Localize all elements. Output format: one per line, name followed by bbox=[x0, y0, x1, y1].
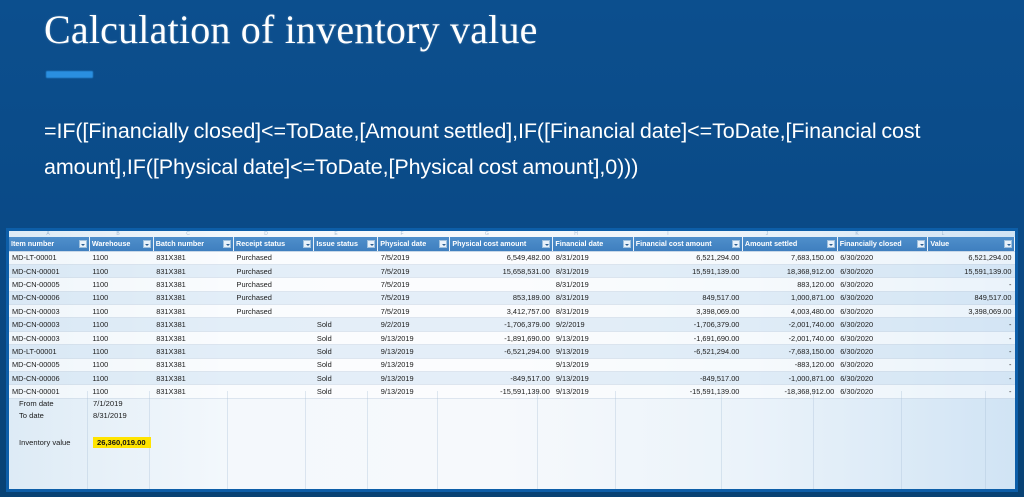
cell-financial-cost-amount[interactable]: -15,591,139.00 bbox=[633, 385, 742, 398]
cell-item-number[interactable]: MD-LT-00001 bbox=[9, 345, 89, 358]
cell-receipt-status[interactable]: Purchased bbox=[234, 251, 314, 264]
table-row[interactable]: MD-CN-000061100831X381Sold9/13/2019-849,… bbox=[9, 372, 1015, 385]
cell-physical-date[interactable]: 7/5/2019 bbox=[378, 305, 450, 318]
cell-value[interactable]: - bbox=[928, 318, 1015, 331]
cell-financial-cost-amount[interactable]: -1,691,690.00 bbox=[633, 331, 742, 344]
filter-dropdown-icon[interactable] bbox=[827, 240, 835, 248]
from-date-label: From date bbox=[19, 399, 93, 408]
cell-financial-cost-amount[interactable]: 849,517.00 bbox=[633, 291, 742, 304]
cell-warehouse[interactable]: 1100 bbox=[89, 331, 153, 344]
column-header-warehouse[interactable]: Warehouse bbox=[89, 237, 153, 251]
cell-physical-cost-amount[interactable]: -6,521,294.00 bbox=[450, 345, 553, 358]
cell-financial-cost-amount[interactable] bbox=[633, 358, 742, 371]
cell-financial-date[interactable]: 9/13/2019 bbox=[553, 358, 633, 371]
table-row[interactable]: MD-LT-000011100831X381Sold9/13/2019-6,52… bbox=[9, 345, 1015, 358]
from-date-value[interactable]: 7/1/2019 bbox=[93, 399, 123, 408]
table-row[interactable]: MD-CN-000011100831X381Sold9/13/2019-15,5… bbox=[9, 385, 1015, 398]
cell-amount-settled[interactable]: 18,368,912.00 bbox=[742, 264, 837, 277]
grid-line bbox=[813, 391, 814, 491]
inventory-value-row: Inventory value 26,360,019.00 bbox=[19, 437, 151, 448]
cell-value[interactable]: 15,591,139.00 bbox=[928, 264, 1015, 277]
table-row[interactable]: MD-LT-000011100831X381Purchased7/5/20196… bbox=[9, 251, 1015, 264]
cell-amount-settled[interactable]: -2,001,740.00 bbox=[742, 331, 837, 344]
column-header-financial-date[interactable]: Financial date bbox=[553, 237, 633, 251]
cell-issue-status[interactable] bbox=[314, 251, 378, 264]
column-header-label: Batch number bbox=[156, 239, 204, 248]
cell-physical-cost-amount[interactable] bbox=[450, 358, 553, 371]
filter-dropdown-icon[interactable] bbox=[917, 240, 925, 248]
cell-financial-cost-amount[interactable]: 6,521,294.00 bbox=[633, 251, 742, 264]
cell-physical-date[interactable]: 7/5/2019 bbox=[378, 291, 450, 304]
cell-batch-number[interactable]: 831X381 bbox=[153, 318, 233, 331]
cell-warehouse[interactable]: 1100 bbox=[89, 305, 153, 318]
cell-value[interactable]: - bbox=[928, 331, 1015, 344]
table-row[interactable]: MD-CN-000051100831X381Sold9/13/20199/13/… bbox=[9, 358, 1015, 371]
cell-receipt-status[interactable]: Purchased bbox=[234, 305, 314, 318]
cell-batch-number[interactable]: 831X381 bbox=[153, 264, 233, 277]
inventory-value-cell[interactable]: 26,360,019.00 bbox=[93, 437, 151, 448]
filter-dropdown-icon[interactable] bbox=[143, 240, 151, 248]
column-header-label: Issue status bbox=[316, 239, 358, 248]
cell-financial-date[interactable]: 9/13/2019 bbox=[553, 331, 633, 344]
cell-financial-date[interactable]: 9/2/2019 bbox=[553, 318, 633, 331]
cell-financial-date[interactable]: 8/31/2019 bbox=[553, 305, 633, 318]
column-header-label: Financial date bbox=[555, 239, 603, 248]
filter-dropdown-icon[interactable] bbox=[223, 240, 231, 248]
cell-value[interactable]: - bbox=[928, 358, 1015, 371]
grid-line bbox=[901, 391, 902, 491]
formula-text: =IF([Financially closed]<=ToDate,[Amount… bbox=[44, 113, 986, 185]
column-header-amount-settled[interactable]: Amount settled bbox=[742, 237, 837, 251]
cell-physical-cost-amount[interactable]: -15,591,139.00 bbox=[450, 385, 553, 398]
cell-warehouse[interactable]: 1100 bbox=[89, 278, 153, 291]
cell-warehouse[interactable]: 1100 bbox=[89, 345, 153, 358]
grid-line bbox=[985, 391, 986, 491]
filter-dropdown-icon[interactable] bbox=[439, 240, 447, 248]
cell-batch-number[interactable]: 831X381 bbox=[153, 291, 233, 304]
cell-item-number[interactable]: MD-CN-00006 bbox=[9, 372, 89, 385]
column-header-batch-number[interactable]: Batch number bbox=[153, 237, 233, 251]
cell-financial-date[interactable]: 8/31/2019 bbox=[553, 264, 633, 277]
cell-financially-closed[interactable]: 6/30/2020 bbox=[837, 331, 928, 344]
cell-receipt-status[interactable] bbox=[234, 318, 314, 331]
table-row[interactable]: MD-CN-000031100831X381Sold9/2/2019-1,706… bbox=[9, 318, 1015, 331]
cell-issue-status[interactable] bbox=[314, 291, 378, 304]
cell-financial-cost-amount[interactable]: -849,517.00 bbox=[633, 372, 742, 385]
cell-item-number[interactable]: MD-CN-00003 bbox=[9, 331, 89, 344]
cell-item-number[interactable]: MD-CN-00005 bbox=[9, 278, 89, 291]
cell-warehouse[interactable]: 1100 bbox=[89, 385, 153, 398]
cell-batch-number[interactable]: 831X381 bbox=[153, 331, 233, 344]
cell-physical-date[interactable]: 9/13/2019 bbox=[378, 358, 450, 371]
cell-item-number[interactable]: MD-CN-00006 bbox=[9, 291, 89, 304]
cell-amount-settled[interactable]: -883,120.00 bbox=[742, 358, 837, 371]
cell-physical-cost-amount[interactable]: 3,412,757.00 bbox=[450, 305, 553, 318]
filter-dropdown-icon[interactable] bbox=[79, 240, 87, 248]
spreadsheet-screenshot: ABCDEFGHIJKL Item numberWarehouseBatch n… bbox=[6, 228, 1018, 492]
table-row[interactable]: MD-CN-000061100831X381Purchased7/5/20198… bbox=[9, 291, 1015, 304]
cell-financially-closed[interactable]: 6/30/2020 bbox=[837, 372, 928, 385]
column-header-label: Financially closed bbox=[840, 239, 902, 248]
cell-issue-status[interactable]: Sold bbox=[314, 372, 378, 385]
cell-financial-date[interactable]: 9/13/2019 bbox=[553, 372, 633, 385]
table-row[interactable]: MD-CN-000051100831X381Purchased7/5/20198… bbox=[9, 278, 1015, 291]
cell-financially-closed[interactable]: 6/30/2020 bbox=[837, 385, 928, 398]
grid-line bbox=[227, 391, 228, 491]
cell-financial-date[interactable]: 8/31/2019 bbox=[553, 278, 633, 291]
cell-financially-closed[interactable]: 6/30/2020 bbox=[837, 291, 928, 304]
inventory-table: Item numberWarehouseBatch numberReceipt … bbox=[9, 237, 1015, 399]
cell-physical-cost-amount[interactable]: -849,517.00 bbox=[450, 372, 553, 385]
cell-value[interactable]: 6,521,294.00 bbox=[928, 251, 1015, 264]
cell-item-number[interactable]: MD-CN-00001 bbox=[9, 385, 89, 398]
cell-financial-date[interactable]: 8/31/2019 bbox=[553, 291, 633, 304]
cell-receipt-status[interactable]: Purchased bbox=[234, 291, 314, 304]
cell-receipt-status[interactable] bbox=[234, 372, 314, 385]
cell-physical-date[interactable]: 9/2/2019 bbox=[378, 318, 450, 331]
cell-receipt-status[interactable] bbox=[234, 358, 314, 371]
cell-financial-date[interactable]: 9/13/2019 bbox=[553, 345, 633, 358]
cell-amount-settled[interactable]: 4,003,480.00 bbox=[742, 305, 837, 318]
to-date-label: To date bbox=[19, 411, 93, 420]
cell-physical-cost-amount[interactable]: -1,706,379.00 bbox=[450, 318, 553, 331]
cell-amount-settled[interactable]: -2,001,740.00 bbox=[742, 318, 837, 331]
cell-amount-settled[interactable]: 7,683,150.00 bbox=[742, 251, 837, 264]
cell-financial-cost-amount[interactable]: -6,521,294.00 bbox=[633, 345, 742, 358]
filter-dropdown-icon[interactable] bbox=[542, 240, 550, 248]
grid-line bbox=[437, 391, 438, 491]
cell-value[interactable]: 3,398,069.00 bbox=[928, 305, 1015, 318]
slide-canvas: Calculation of inventory value =IF([Fina… bbox=[0, 0, 1024, 497]
cell-receipt-status[interactable] bbox=[234, 331, 314, 344]
cell-issue-status[interactable] bbox=[314, 305, 378, 318]
cell-physical-date[interactable]: 9/13/2019 bbox=[378, 372, 450, 385]
filter-dropdown-icon[interactable] bbox=[1004, 240, 1012, 248]
table-header-row: Item numberWarehouseBatch numberReceipt … bbox=[9, 237, 1015, 251]
cell-issue-status[interactable]: Sold bbox=[314, 385, 378, 398]
cell-financially-closed[interactable]: 6/30/2020 bbox=[837, 358, 928, 371]
cell-issue-status[interactable]: Sold bbox=[314, 345, 378, 358]
cell-financial-date[interactable]: 9/13/2019 bbox=[553, 385, 633, 398]
column-header-label: Item number bbox=[11, 239, 54, 248]
cell-item-number[interactable]: MD-CN-00003 bbox=[9, 318, 89, 331]
column-header-issue-status[interactable]: Issue status bbox=[314, 237, 378, 251]
cell-issue-status[interactable]: Sold bbox=[314, 331, 378, 344]
cell-physical-cost-amount[interactable]: 6,549,482.00 bbox=[450, 251, 553, 264]
cell-batch-number[interactable]: 831X381 bbox=[153, 358, 233, 371]
filter-dropdown-icon[interactable] bbox=[303, 240, 311, 248]
cell-amount-settled[interactable]: -18,368,912.00 bbox=[742, 385, 837, 398]
grid-line bbox=[367, 391, 368, 491]
cell-value[interactable]: - bbox=[928, 278, 1015, 291]
inventory-value-label: Inventory value bbox=[19, 438, 93, 447]
cell-item-number[interactable]: MD-CN-00001 bbox=[9, 264, 89, 277]
cell-item-number[interactable]: MD-CN-00003 bbox=[9, 305, 89, 318]
cell-physical-cost-amount[interactable]: 15,658,531.00 bbox=[450, 264, 553, 277]
column-header-label: Receipt status bbox=[236, 239, 285, 248]
column-header-label: Physical date bbox=[380, 239, 426, 248]
column-header-label: Warehouse bbox=[92, 239, 130, 248]
cell-issue-status[interactable] bbox=[314, 264, 378, 277]
cell-physical-date[interactable]: 7/5/2019 bbox=[378, 264, 450, 277]
cell-issue-status[interactable] bbox=[314, 278, 378, 291]
table-row[interactable]: MD-CN-000011100831X381Purchased7/5/20191… bbox=[9, 264, 1015, 277]
cell-physical-date[interactable]: 9/13/2019 bbox=[378, 331, 450, 344]
cell-physical-date[interactable]: 9/13/2019 bbox=[378, 385, 450, 398]
cell-financially-closed[interactable]: 6/30/2020 bbox=[837, 318, 928, 331]
cell-warehouse[interactable]: 1100 bbox=[89, 251, 153, 264]
cell-financial-cost-amount[interactable] bbox=[633, 278, 742, 291]
grid-line bbox=[721, 391, 722, 491]
column-header-physical-date[interactable]: Physical date bbox=[378, 237, 450, 251]
filter-dropdown-icon[interactable] bbox=[732, 240, 740, 248]
cell-batch-number[interactable]: 831X381 bbox=[153, 251, 233, 264]
column-header-item-number[interactable]: Item number bbox=[9, 237, 89, 251]
cell-batch-number[interactable]: 831X381 bbox=[153, 278, 233, 291]
cell-batch-number[interactable]: 831X381 bbox=[153, 345, 233, 358]
grid-line bbox=[537, 391, 538, 491]
cell-physical-cost-amount[interactable] bbox=[450, 278, 553, 291]
column-header-financially-closed[interactable]: Financially closed bbox=[837, 237, 928, 251]
cell-warehouse[interactable]: 1100 bbox=[89, 318, 153, 331]
cell-batch-number[interactable]: 831X381 bbox=[153, 385, 233, 398]
cell-item-number[interactable]: MD-CN-00005 bbox=[9, 358, 89, 371]
cell-financial-date[interactable]: 8/31/2019 bbox=[553, 251, 633, 264]
cell-financially-closed[interactable]: 6/30/2020 bbox=[837, 345, 928, 358]
cell-value[interactable]: - bbox=[928, 372, 1015, 385]
cell-financially-closed[interactable]: 6/30/2020 bbox=[837, 278, 928, 291]
cell-receipt-status[interactable] bbox=[234, 385, 314, 398]
filter-dropdown-icon[interactable] bbox=[367, 240, 375, 248]
column-header-financial-cost-amount[interactable]: Financial cost amount bbox=[633, 237, 742, 251]
cell-issue-status[interactable]: Sold bbox=[314, 358, 378, 371]
filter-dropdown-icon[interactable] bbox=[623, 240, 631, 248]
column-header-label: Financial cost amount bbox=[636, 239, 712, 248]
cell-warehouse[interactable]: 1100 bbox=[89, 358, 153, 371]
cell-financially-closed[interactable]: 6/30/2020 bbox=[837, 251, 928, 264]
cell-financial-cost-amount[interactable]: -1,706,379.00 bbox=[633, 318, 742, 331]
table-body: MD-LT-000011100831X381Purchased7/5/20196… bbox=[9, 251, 1015, 398]
cell-receipt-status[interactable] bbox=[234, 345, 314, 358]
column-header-receipt-status[interactable]: Receipt status bbox=[234, 237, 314, 251]
table-row[interactable]: MD-CN-000031100831X381Purchased7/5/20193… bbox=[9, 305, 1015, 318]
cell-physical-cost-amount[interactable]: 853,189.00 bbox=[450, 291, 553, 304]
column-header-value[interactable]: Value bbox=[928, 237, 1015, 251]
cell-warehouse[interactable]: 1100 bbox=[89, 264, 153, 277]
cell-physical-date[interactable]: 9/13/2019 bbox=[378, 345, 450, 358]
cell-financial-cost-amount[interactable]: 15,591,139.00 bbox=[633, 264, 742, 277]
cell-financial-cost-amount[interactable]: 3,398,069.00 bbox=[633, 305, 742, 318]
from-date-row: From date 7/1/2019 bbox=[19, 399, 123, 408]
page-title: Calculation of inventory value bbox=[44, 6, 538, 53]
grid-line bbox=[615, 391, 616, 491]
cell-receipt-status[interactable]: Purchased bbox=[234, 264, 314, 277]
table-row[interactable]: MD-CN-000031100831X381Sold9/13/2019-1,89… bbox=[9, 331, 1015, 344]
cell-physical-cost-amount[interactable]: -1,891,690.00 bbox=[450, 331, 553, 344]
cell-amount-settled[interactable]: -7,683,150.00 bbox=[742, 345, 837, 358]
cell-financially-closed[interactable]: 6/30/2020 bbox=[837, 264, 928, 277]
cell-amount-settled[interactable]: 1,000,871.00 bbox=[742, 291, 837, 304]
cell-batch-number[interactable]: 831X381 bbox=[153, 305, 233, 318]
cell-amount-settled[interactable]: -1,000,871.00 bbox=[742, 372, 837, 385]
cell-receipt-status[interactable]: Purchased bbox=[234, 278, 314, 291]
cell-value[interactable]: - bbox=[928, 345, 1015, 358]
empty-grid-lines bbox=[9, 391, 1015, 491]
title-accent-bar bbox=[46, 71, 93, 78]
to-date-row: To date 8/31/2019 bbox=[19, 411, 127, 420]
cell-value[interactable]: - bbox=[928, 385, 1015, 398]
cell-item-number[interactable]: MD-LT-00001 bbox=[9, 251, 89, 264]
spreadsheet-surface: ABCDEFGHIJKL Item numberWarehouseBatch n… bbox=[9, 231, 1015, 489]
cell-batch-number[interactable]: 831X381 bbox=[153, 372, 233, 385]
cell-amount-settled[interactable]: 883,120.00 bbox=[742, 278, 837, 291]
column-header-label: Value bbox=[930, 239, 949, 248]
column-header-physical-cost-amount[interactable]: Physical cost amount bbox=[450, 237, 553, 251]
column-header-label: Physical cost amount bbox=[452, 239, 526, 248]
cell-financially-closed[interactable]: 6/30/2020 bbox=[837, 305, 928, 318]
grid-line bbox=[305, 391, 306, 491]
to-date-value[interactable]: 8/31/2019 bbox=[93, 411, 127, 420]
cell-warehouse[interactable]: 1100 bbox=[89, 291, 153, 304]
cell-warehouse[interactable]: 1100 bbox=[89, 372, 153, 385]
cell-value[interactable]: 849,517.00 bbox=[928, 291, 1015, 304]
cell-physical-date[interactable]: 7/5/2019 bbox=[378, 251, 450, 264]
cell-issue-status[interactable]: Sold bbox=[314, 318, 378, 331]
cell-physical-date[interactable]: 7/5/2019 bbox=[378, 278, 450, 291]
column-header-label: Amount settled bbox=[745, 239, 797, 248]
